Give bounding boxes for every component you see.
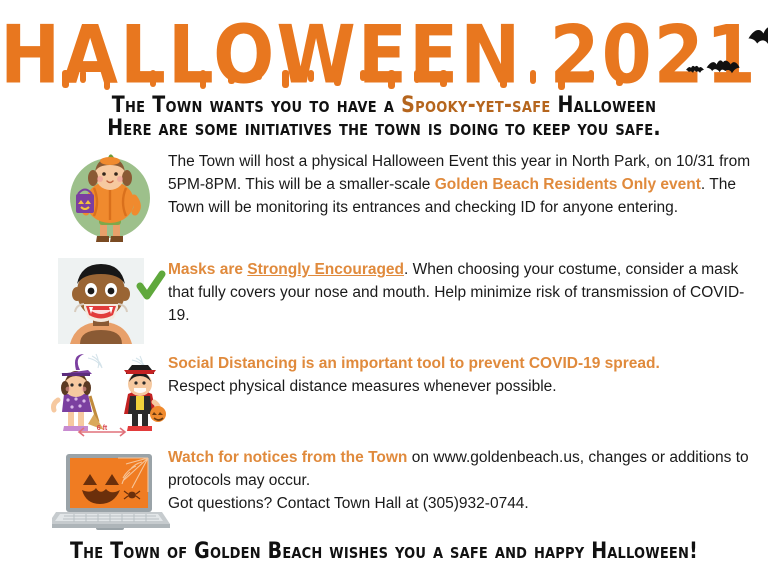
vampire-figure (124, 365, 166, 431)
footer-banner: The Town of Golden Beach wishes you a sa… (0, 538, 768, 564)
distance-label: 6 ft (97, 425, 108, 432)
title-area: HALLOWEEN 2021 (0, 14, 768, 92)
witch-figure (54, 354, 105, 431)
witch-and-vampire-distancing-icon: 6 ft (50, 352, 172, 442)
notices-lead: Watch for notices from the Town (168, 449, 407, 466)
distancing-paragraph: Social Distancing is an important tool t… (168, 352, 764, 398)
masks-lead-underlined: Strongly Encouraged (247, 261, 404, 278)
masks-paragraph: Masks are Strongly Encouraged. When choo… (168, 258, 764, 327)
halloween-poster: HALLOWEEN 2021 (0, 0, 768, 576)
person-wearing-vampire-mask-icon (58, 258, 166, 344)
masks-lead: Masks are (168, 261, 247, 278)
subheadline-line-2: Here are some initiatives the town is do… (0, 115, 768, 141)
event-accent: Golden Beach Residents Only event (435, 176, 701, 193)
girl-in-pumpkin-costume-icon (58, 154, 162, 250)
event-paragraph: The Town will host a physical Halloween … (168, 150, 764, 219)
bat-icon-group (676, 18, 768, 90)
notices-text-2: Got questions? Contact Town Hall at (305… (168, 492, 764, 515)
distancing-text: Respect physical distance measures whene… (168, 375, 764, 398)
notices-paragraph: Watch for notices from the Town on www.g… (168, 446, 764, 515)
page-title: HALLOWEEN 2021 (0, 14, 700, 95)
distancing-lead: Social Distancing is an important tool t… (168, 352, 764, 375)
laptop-with-jack-o-lantern-screen-icon (52, 450, 172, 536)
